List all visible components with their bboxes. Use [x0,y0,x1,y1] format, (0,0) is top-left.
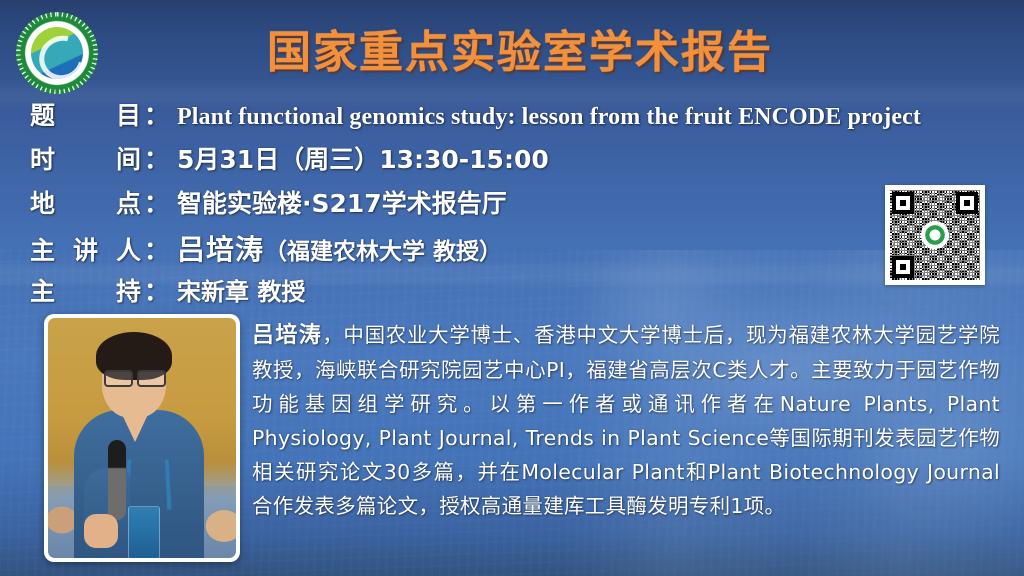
value-host: 宋新章 教授 [177,272,305,307]
label-location: 地点 [30,184,142,220]
photo-person-glasses [104,370,166,383]
poster-title: 国家重点实验室学术报告 [200,16,840,80]
colon-host: ： [144,272,169,308]
value-location: 智能实验楼·S217学术报告厅 [177,184,507,220]
qr-finder-top-left [892,192,914,214]
speaker-photo [48,318,236,558]
photo-person-lanyard [124,460,171,510]
label-host: 主持 [30,272,142,308]
logo-inner-emblem [31,27,83,79]
state-key-laboratory-logo-icon [16,12,98,94]
label-speaker: 主讲人 [30,231,142,267]
value-speaker-affiliation: （福建农林大学 教授） [264,232,502,266]
qr-code-pattern [890,190,980,280]
info-row-location: 地点 ： 智能实验楼·S217学术报告厅 [30,184,1000,228]
info-block: 题目 ： Plant functional genomics study: le… [30,96,1000,316]
label-topic: 题目 [30,96,142,132]
biography-speaker-name: 吕培涛 [252,323,322,348]
label-time: 时间 [30,140,142,176]
poster-header: 国家重点实验室学术报告 [0,0,1024,96]
value-time: 5月31日（周三）13:30-15:00 [177,140,549,176]
info-row-speaker: 主讲人 ： 吕培涛 （福建农林大学 教授） [30,228,1000,272]
colon-time: ： [144,140,169,176]
value-topic: Plant functional genomics study: lesson … [177,104,921,131]
biography-text: ，中国农业大学博士、香港中文大学博士后，现为福建农林大学园艺学院教授，海峡联合研… [252,323,1000,518]
info-row-host: 主持 ： 宋新章 教授 [30,272,1000,316]
photo-conference-badge [128,506,160,558]
qr-finder-top-right [956,192,978,214]
value-speaker-name: 吕培涛 [177,228,264,268]
qr-finder-bottom-left [892,256,914,278]
seminar-poster: 国家重点实验室学术报告 题目 ： Plant functional genomi… [0,0,1024,576]
qr-center-logo-icon [924,224,946,246]
speaker-photo-frame [44,314,240,562]
info-row-time: 时间 ： 5月31日（周三）13:30-15:00 [30,140,1000,184]
colon-topic: ： [144,96,169,132]
photo-person-hand [84,514,118,548]
colon-speaker: ： [144,231,169,267]
colon-location: ： [144,184,169,220]
speaker-biography: 吕培涛，中国农业大学博士、香港中文大学博士后，现为福建农林大学园艺学院教授，海峡… [252,318,1000,523]
photo-microphone [108,440,126,520]
qr-code[interactable] [885,185,985,285]
info-row-topic: 题目 ： Plant functional genomics study: le… [30,96,1000,140]
